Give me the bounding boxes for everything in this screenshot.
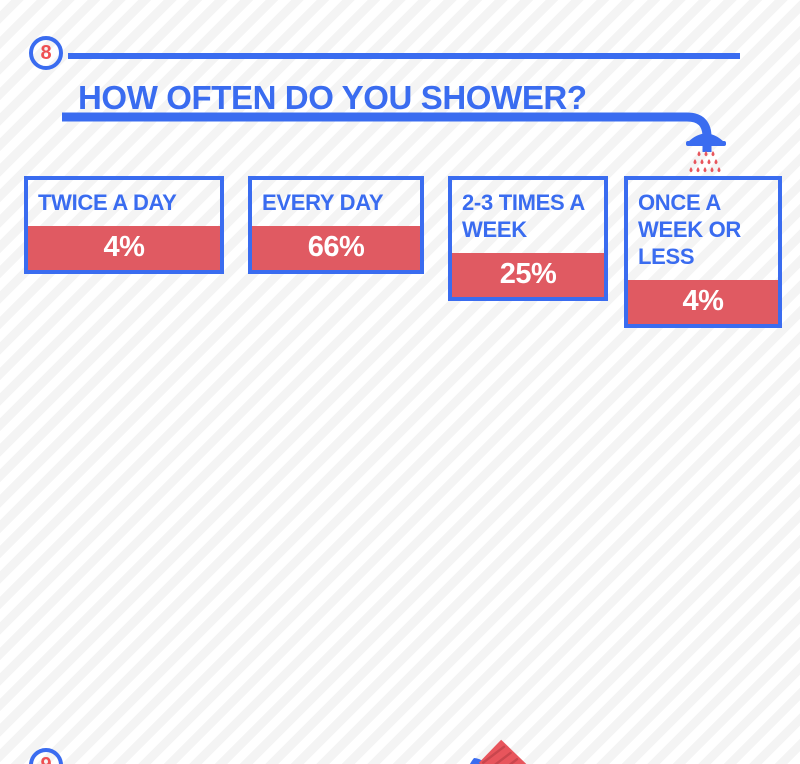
- section-top-rule-8: [68, 53, 740, 59]
- stat-value: 25%: [452, 253, 604, 297]
- stat-label: ONCE A WEEK OR LESS: [628, 180, 778, 280]
- infographic-page: 8 HOW OFTEN DO YOU SHOWER?: [0, 0, 800, 764]
- stat-value: 4%: [28, 226, 220, 270]
- stat-label: TWICE A DAY: [28, 180, 220, 226]
- stat-label: 2-3 TIMES A WEEK: [452, 180, 604, 253]
- stat-box: TWICE A DAY 4%: [24, 176, 224, 274]
- shower-head-icon: [679, 126, 733, 178]
- heading-underline-pipe-8: [62, 112, 722, 174]
- section-number-badge-8: 8: [29, 36, 63, 70]
- stat-label: EVERY DAY: [252, 180, 420, 226]
- stat-value: 4%: [628, 280, 778, 324]
- toothbrush-icon: [452, 738, 652, 764]
- stat-box: 2-3 TIMES A WEEK 25%: [448, 176, 608, 301]
- stat-box: ONCE A WEEK OR LESS 4%: [624, 176, 782, 328]
- stat-box: EVERY DAY 66%: [248, 176, 424, 274]
- section-number-badge-9: 9: [29, 748, 63, 764]
- stat-value: 66%: [252, 226, 420, 270]
